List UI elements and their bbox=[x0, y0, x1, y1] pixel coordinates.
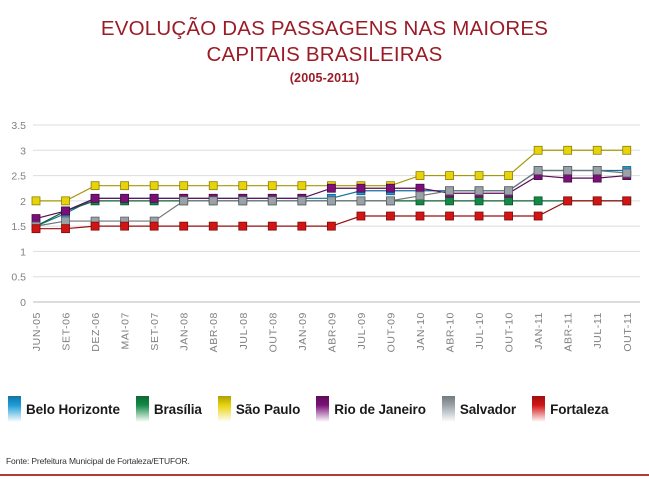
data-point-marker bbox=[564, 167, 572, 175]
data-point-marker bbox=[209, 222, 217, 230]
data-point-marker bbox=[239, 182, 247, 190]
x-axis-tick-label: ABR-11 bbox=[563, 312, 575, 352]
data-point-marker bbox=[239, 197, 247, 205]
legend-label: Salvador bbox=[460, 402, 516, 417]
data-point-marker bbox=[327, 197, 335, 205]
data-point-marker bbox=[475, 212, 483, 220]
x-axis-tick-label: SET-07 bbox=[149, 312, 161, 351]
data-point-marker bbox=[298, 222, 306, 230]
x-axis-tick-label: OUT-09 bbox=[385, 312, 397, 352]
x-axis-tick-label: JUL-11 bbox=[592, 312, 604, 349]
data-point-marker bbox=[475, 197, 483, 205]
chart-legend: Belo HorizonteBrasíliaSão PauloRio de Ja… bbox=[8, 396, 648, 422]
data-point-marker bbox=[416, 212, 424, 220]
x-axis-tick-label: ABR-08 bbox=[208, 312, 220, 352]
data-point-marker bbox=[534, 146, 542, 154]
x-axis-tick-label: JAN-10 bbox=[415, 312, 427, 351]
data-point-marker bbox=[121, 194, 129, 202]
x-axis-tick-label: JAN-11 bbox=[533, 312, 545, 350]
legend-label: Fortaleza bbox=[550, 402, 608, 417]
y-axis-tick-label: 0 bbox=[20, 297, 26, 309]
data-point-marker bbox=[446, 197, 454, 205]
x-axis-tick-label: JAN-09 bbox=[297, 312, 309, 351]
legend-swatch-icon bbox=[316, 396, 329, 422]
x-axis-tick-label: DEZ-06 bbox=[90, 312, 102, 352]
data-point-marker bbox=[150, 222, 158, 230]
y-axis-tick-label: 3 bbox=[20, 145, 26, 157]
page-title: EVOLUÇÃO DAS PASSAGENS NAS MAIORES CAPIT… bbox=[65, 16, 585, 68]
legend-label: São Paulo bbox=[236, 402, 300, 417]
data-point-marker bbox=[150, 194, 158, 202]
data-point-marker bbox=[150, 182, 158, 190]
x-axis-tick-label: MAI-07 bbox=[120, 312, 132, 349]
legend-label: Brasília bbox=[154, 402, 202, 417]
x-axis-tick-label: JUN-05 bbox=[31, 312, 43, 351]
data-point-marker bbox=[62, 197, 70, 205]
data-point-marker bbox=[505, 187, 513, 195]
y-axis-tick-label: 0.5 bbox=[11, 272, 26, 284]
data-point-marker bbox=[534, 167, 542, 175]
legend-swatch-icon bbox=[218, 396, 231, 422]
data-point-marker bbox=[416, 192, 424, 200]
y-axis-tick-label: 1 bbox=[20, 246, 26, 258]
data-point-marker bbox=[32, 225, 40, 233]
data-point-marker bbox=[593, 197, 601, 205]
x-axis-tick-label: SET-06 bbox=[61, 312, 73, 351]
line-chart-svg: 00.511.522.533.5 JUN-05SET-06DEZ-06MAI-0… bbox=[0, 110, 649, 385]
x-axis-tick-label: JUL-10 bbox=[474, 312, 486, 349]
data-point-marker bbox=[623, 197, 631, 205]
data-point-marker bbox=[564, 146, 572, 154]
data-point-marker bbox=[268, 197, 276, 205]
data-point-marker bbox=[91, 194, 99, 202]
data-point-marker bbox=[386, 212, 394, 220]
data-point-marker bbox=[593, 146, 601, 154]
data-point-marker bbox=[327, 184, 335, 192]
data-point-marker bbox=[180, 182, 188, 190]
data-point-marker bbox=[62, 225, 70, 233]
legend-label: Rio de Janeiro bbox=[334, 402, 426, 417]
data-point-marker bbox=[357, 197, 365, 205]
data-point-marker bbox=[121, 222, 129, 230]
data-point-marker bbox=[209, 182, 217, 190]
data-point-marker bbox=[268, 222, 276, 230]
data-point-marker bbox=[593, 174, 601, 182]
x-axis-tick-label: OUT-10 bbox=[504, 312, 516, 352]
data-point-marker bbox=[475, 172, 483, 180]
data-point-marker bbox=[564, 197, 572, 205]
data-point-marker bbox=[121, 182, 129, 190]
data-point-marker bbox=[446, 187, 454, 195]
data-point-marker bbox=[534, 212, 542, 220]
x-axis-tick-label: ABR-09 bbox=[326, 312, 338, 352]
data-point-marker bbox=[180, 197, 188, 205]
data-point-marker bbox=[564, 174, 572, 182]
data-point-marker bbox=[298, 197, 306, 205]
data-point-marker bbox=[268, 182, 276, 190]
data-point-marker bbox=[298, 182, 306, 190]
x-axis-tick-label: JUL-08 bbox=[238, 312, 250, 349]
data-point-marker bbox=[623, 169, 631, 177]
x-axis-tick-label: ABR-10 bbox=[445, 312, 457, 352]
data-point-marker bbox=[32, 197, 40, 205]
source-note: Fonte: Prefeitura Municipal de Fortaleza… bbox=[6, 456, 190, 466]
data-point-marker bbox=[62, 207, 70, 215]
page-subtitle: (2005-2011) bbox=[0, 71, 649, 85]
y-axis-tick-label: 3.5 bbox=[11, 120, 26, 132]
data-point-marker bbox=[91, 182, 99, 190]
y-axis-tick-label: 1.5 bbox=[11, 221, 26, 233]
x-axis-tick-label: JAN-08 bbox=[179, 312, 191, 351]
legend-item-são-paulo[interactable]: São Paulo bbox=[218, 396, 300, 422]
data-point-marker bbox=[505, 172, 513, 180]
legend-item-belo-horizonte[interactable]: Belo Horizonte bbox=[8, 396, 120, 422]
legend-item-salvador[interactable]: Salvador bbox=[442, 396, 516, 422]
y-axis-tick-label: 2 bbox=[20, 196, 26, 208]
data-point-marker bbox=[32, 215, 40, 223]
data-point-marker bbox=[623, 146, 631, 154]
legend-swatch-icon bbox=[532, 396, 545, 422]
data-point-marker bbox=[505, 212, 513, 220]
data-point-marker bbox=[62, 217, 70, 225]
data-point-marker bbox=[475, 187, 483, 195]
data-point-marker bbox=[505, 197, 513, 205]
gridlines-group bbox=[33, 125, 640, 302]
data-point-marker bbox=[91, 222, 99, 230]
x-axis-tick-label: JUL-09 bbox=[356, 312, 368, 349]
legend-item-rio-de-janeiro[interactable]: Rio de Janeiro bbox=[316, 396, 426, 422]
data-point-marker bbox=[386, 184, 394, 192]
data-point-marker bbox=[209, 197, 217, 205]
legend-swatch-icon bbox=[442, 396, 455, 422]
data-point-marker bbox=[416, 172, 424, 180]
y-axis-labels-group: 00.511.522.533.5 bbox=[11, 120, 26, 309]
data-series-group bbox=[32, 146, 631, 232]
legend-swatch-icon bbox=[136, 396, 149, 422]
data-point-marker bbox=[416, 184, 424, 192]
data-point-marker bbox=[357, 184, 365, 192]
data-point-marker bbox=[327, 222, 335, 230]
chart-plot-area: 00.511.522.533.5 JUN-05SET-06DEZ-06MAI-0… bbox=[0, 110, 649, 385]
legend-item-fortaleza[interactable]: Fortaleza bbox=[532, 396, 608, 422]
data-point-marker bbox=[446, 172, 454, 180]
x-axis-tick-label: OUT-11 bbox=[622, 312, 634, 352]
y-axis-tick-label: 2.5 bbox=[11, 171, 26, 183]
data-point-marker bbox=[239, 222, 247, 230]
data-point-marker bbox=[534, 197, 542, 205]
legend-item-brasília[interactable]: Brasília bbox=[136, 396, 202, 422]
x-axis-labels-group: JUN-05SET-06DEZ-06MAI-07SET-07JAN-08ABR-… bbox=[31, 312, 634, 352]
data-point-marker bbox=[180, 222, 188, 230]
data-point-marker bbox=[446, 212, 454, 220]
title-block: EVOLUÇÃO DAS PASSAGENS NAS MAIORES CAPIT… bbox=[0, 0, 649, 85]
footer-divider bbox=[0, 474, 649, 476]
legend-label: Belo Horizonte bbox=[26, 402, 120, 417]
data-point-marker bbox=[386, 197, 394, 205]
legend-swatch-icon bbox=[8, 396, 21, 422]
x-axis-tick-label: OUT-08 bbox=[267, 312, 279, 352]
data-point-marker bbox=[593, 167, 601, 175]
data-point-marker bbox=[357, 212, 365, 220]
